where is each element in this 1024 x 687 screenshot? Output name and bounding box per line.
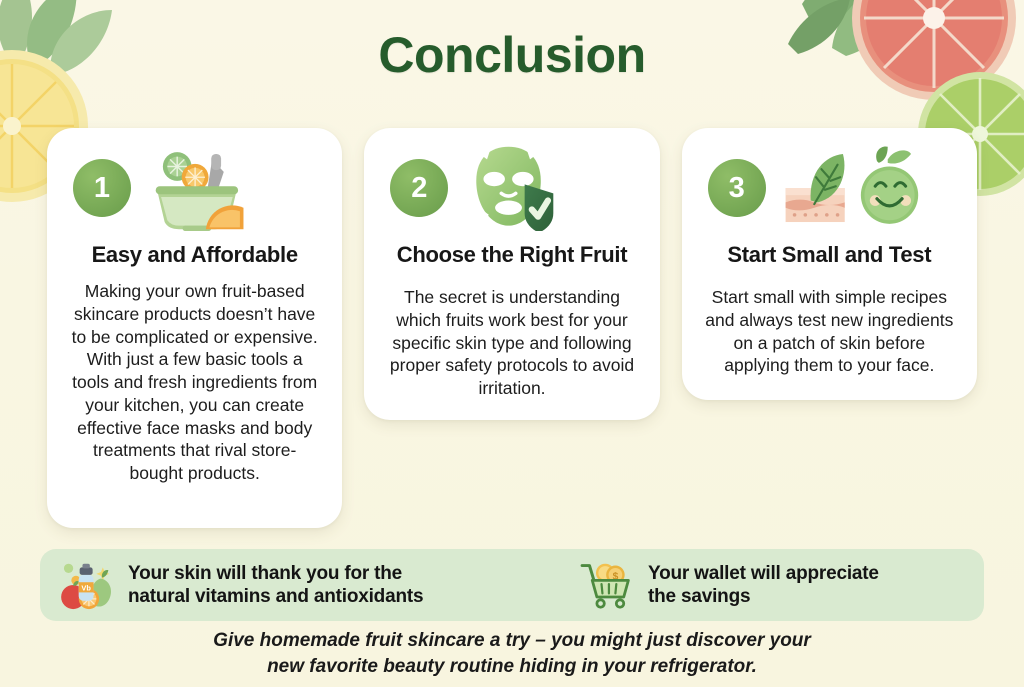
card-body: Start small with simple recipes and alwa… (700, 286, 959, 377)
benefit-label: Your skin will thank you for the natural… (128, 562, 423, 608)
benefit-label-line1: Your wallet will appreciate (648, 562, 879, 585)
footer-line1: Give homemade fruit skincare a try – you… (110, 628, 914, 654)
card-header: 3 (700, 150, 959, 226)
slide-canvas: Conclusion 1 (0, 0, 1024, 687)
leaf-skin-patch-apple-smile-icon (776, 145, 926, 231)
footer-tagline: Give homemade fruit skincare a try – you… (0, 628, 1024, 680)
benefit-label: Your wallet will appreciate the savings (648, 562, 879, 608)
card-body: Making your own fruit-based skincare pro… (65, 280, 324, 485)
benefits-banner: Vb Your skin will thank you for the natu… (40, 549, 984, 621)
page-title: Conclusion (0, 26, 1024, 84)
card-title: Start Small and Test (700, 242, 959, 268)
card-title: Easy and Affordable (65, 242, 324, 268)
benefit-label-line2: natural vitamins and antioxidants (128, 585, 423, 608)
face-mask-shield-check-icon (458, 145, 568, 231)
vitamin-bottle-fruits-icon: Vb (60, 560, 116, 610)
card-header: 1 (65, 150, 324, 226)
shopping-cart-coins-icon: $ (580, 560, 636, 610)
step-number-badge: 3 (708, 159, 766, 217)
svg-text:Vb: Vb (81, 584, 91, 593)
benefit-label-line1: Your skin will thank you for the (128, 562, 423, 585)
benefit-item-wallet: $ Your wallet will appreciate the saving… (580, 560, 879, 610)
step-number-badge: 1 (73, 159, 131, 217)
card-start-small-and-test[interactable]: 3 (682, 128, 977, 400)
card-body: The secret is understanding which fruits… (382, 286, 641, 400)
step-number-badge: 2 (390, 159, 448, 217)
conclusion-cards: 1 (47, 128, 977, 528)
benefit-label-line2: the savings (648, 585, 879, 608)
card-title: Choose the Right Fruit (382, 242, 641, 268)
card-choose-the-right-fruit[interactable]: 2 (364, 128, 659, 420)
card-easy-and-affordable[interactable]: 1 (47, 128, 342, 528)
card-header: 2 (382, 150, 641, 226)
footer-line2: new favorite beauty routine hiding in yo… (110, 654, 914, 680)
mortar-bowl-fruit-icon (141, 145, 251, 231)
benefit-item-skin: Vb Your skin will thank you for the natu… (60, 560, 580, 610)
